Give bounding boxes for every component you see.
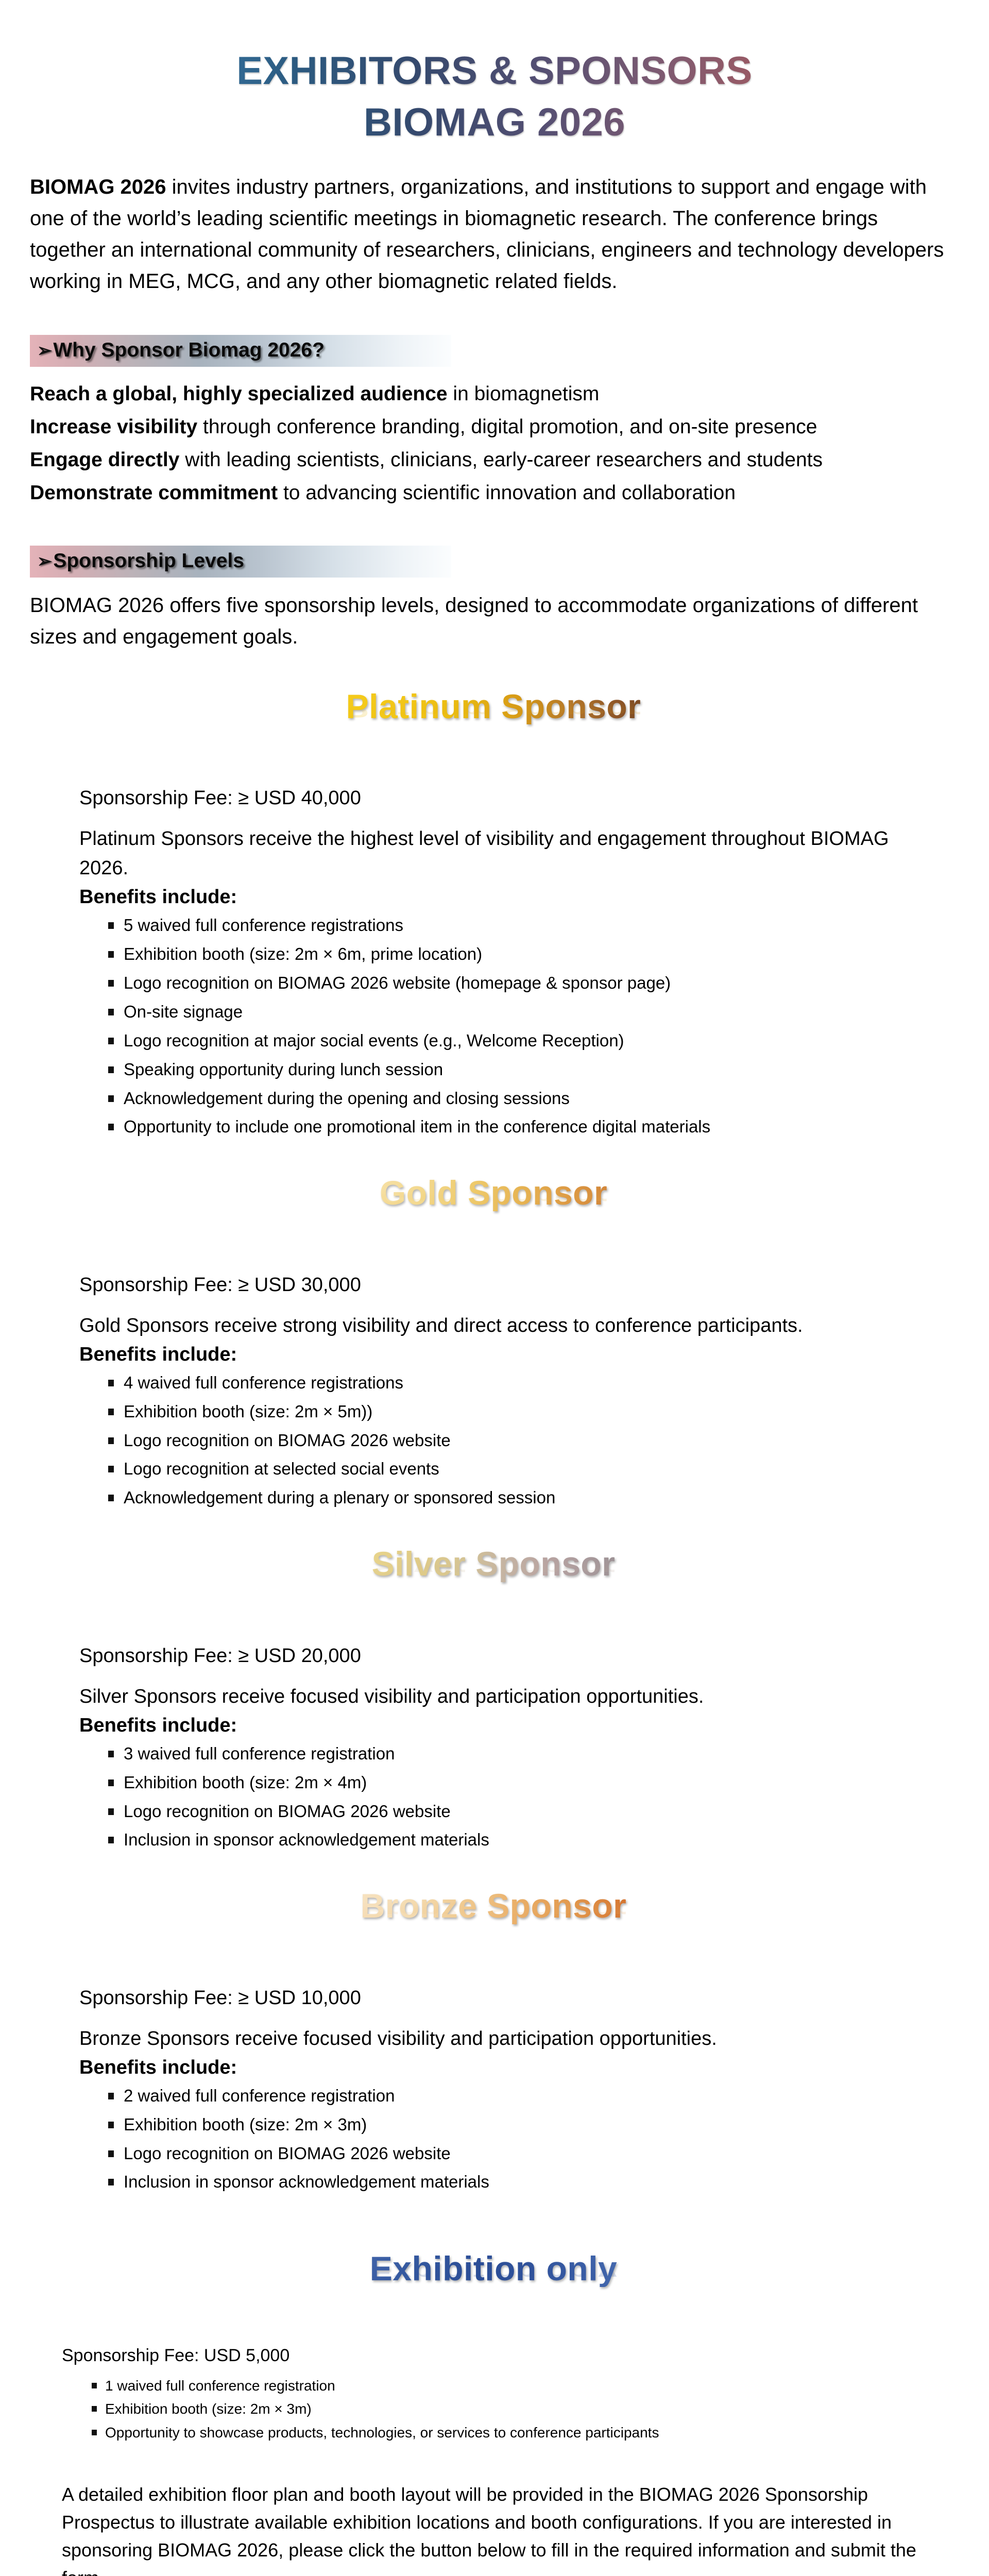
intro-paragraph: BIOMAG 2026 invites industry partners, o… (30, 172, 952, 297)
list-item: Acknowledgement during a plenary or spon… (108, 1486, 925, 1510)
list-item: Demonstrate commitment to advancing scie… (30, 478, 957, 508)
why-sponsor-list: Reach a global, highly specialized audie… (30, 379, 957, 507)
tier-body-platinum: Sponsorship Fee: ≥ USD 40,000 Platinum S… (30, 784, 957, 1139)
tier-title-silver-text: Silver Sponsor (372, 1546, 616, 1582)
benefits-label-gold: Benefits include: (79, 1344, 925, 1366)
list-item: Speaking opportunity during lunch sessio… (108, 1058, 925, 1082)
why-item-bold: Increase visibility (30, 416, 197, 438)
why-item-rest: with leading scientists, clinicians, ear… (179, 449, 823, 471)
tier-description-silver: Silver Sponsors receive focused visibili… (79, 1682, 925, 1711)
list-item: Exhibition booth (size: 2m × 3m) (108, 2113, 925, 2137)
list-item: Increase visibility through conference b… (30, 412, 957, 442)
benefits-list-exhibition-only: 1 waived full conference registration Ex… (62, 2376, 925, 2443)
why-item-bold: Reach a global, highly specialized audie… (30, 383, 448, 405)
exhibition-only-fee: Sponsorship Fee: USD 5,000 (62, 2343, 925, 2368)
why-item-bold: Engage directly (30, 449, 179, 471)
closing-block: A detailed exhibition floor plan and boo… (30, 2481, 957, 2576)
list-item: Opportunity to include one promotional i… (108, 1115, 925, 1139)
tier-fee-gold: Sponsorship Fee: ≥ USD 30,000 (79, 1270, 925, 1300)
exhibition-only-body: Sponsorship Fee: USD 5,000 1 waived full… (30, 2343, 957, 2443)
page-title-block: EXHIBITORS & SPONSORS BIOMAG 2026 (0, 0, 989, 144)
tier-title-silver: Silver Sponsor Silver Sponsor (30, 1546, 957, 1615)
tier-description-bronze: Bronze Sponsors receive focused visibili… (79, 2024, 925, 2054)
list-item: On-site signage (108, 1000, 925, 1024)
list-item: Exhibition booth (size: 2m × 5m)) (108, 1400, 925, 1424)
benefits-list-platinum: 5 waived full conference registrations E… (79, 913, 925, 1139)
section-header-why-sponsor: ➢ Why Sponsor Biomag 2026? (30, 335, 451, 367)
sponsorship-page: EXHIBITORS & SPONSORS BIOMAG 2026 BIOMAG… (0, 0, 989, 2576)
list-item: Reach a global, highly specialized audie… (30, 379, 957, 409)
list-item: 3 waived full conference registration (108, 1742, 925, 1766)
list-item: Opportunity to showcase products, techno… (92, 2422, 925, 2443)
benefits-label-silver: Benefits include: (79, 1715, 925, 1737)
tier-title-bronze-text: Bronze Sponsor (361, 1888, 627, 1924)
benefits-list-bronze: 2 waived full conference registration Ex… (79, 2084, 925, 2194)
why-item-rest: to advancing scientific innovation and c… (278, 482, 736, 504)
tier-fee-platinum: Sponsorship Fee: ≥ USD 40,000 (79, 784, 925, 813)
list-item: 4 waived full conference registrations (108, 1371, 925, 1395)
tier-title-bronze: Bronze Sponsor Bronze Sponsor (30, 1888, 957, 1957)
section-header-why-sponsor-label: Why Sponsor Biomag 2026? (53, 339, 325, 362)
page-title-line-2: BIOMAG 2026 (0, 101, 989, 144)
list-item: Acknowledgement during the opening and c… (108, 1087, 925, 1111)
tier-title-platinum: Platinum Sponsor Platinum Sponsor (30, 689, 957, 757)
why-item-rest: through conference branding, digital pro… (197, 416, 817, 438)
list-item: Exhibition booth (size: 2m × 6m, prime l… (108, 942, 925, 967)
list-item: Inclusion in sponsor acknowledgement mat… (108, 2170, 925, 2194)
list-item: Logo recognition at major social events … (108, 1029, 925, 1053)
arrow-bullet-icon: ➢ (37, 552, 52, 570)
intro-paragraph-text: invites industry partners, organizations… (30, 176, 944, 292)
tier-fee-silver: Sponsorship Fee: ≥ USD 20,000 (79, 1641, 925, 1671)
section-header-sponsorship-levels-label: Sponsorship Levels (53, 550, 244, 572)
list-item: 1 waived full conference registration (92, 2376, 925, 2396)
tier-description-gold: Gold Sponsors receive strong visibility … (79, 1311, 925, 1341)
page-content: BIOMAG 2026 invites industry partners, o… (0, 172, 989, 2576)
list-item: Logo recognition at selected social even… (108, 1457, 925, 1481)
tier-title-gold-text: Gold Sponsor (380, 1175, 607, 1211)
why-item-bold: Demonstrate commitment (30, 482, 278, 504)
benefits-list-silver: 3 waived full conference registration Ex… (79, 1742, 925, 1852)
list-item: Inclusion in sponsor acknowledgement mat… (108, 1828, 925, 1852)
list-item: Exhibition booth (size: 2m × 4m) (108, 1771, 925, 1795)
closing-paragraph: A detailed exhibition floor plan and boo… (62, 2481, 919, 2576)
benefits-list-gold: 4 waived full conference registrations E… (79, 1371, 925, 1510)
list-item: Logo recognition on BIOMAG 2026 website (108, 1800, 925, 1824)
tier-title-gold: Gold Sponsor Gold Sponsor (30, 1175, 957, 1244)
tier-description-platinum: Platinum Sponsors receive the highest le… (79, 824, 925, 883)
intro-lead-bold: BIOMAG 2026 (30, 176, 166, 198)
benefits-label-bronze: Benefits include: (79, 2057, 925, 2079)
list-item: Logo recognition on BIOMAG 2026 website … (108, 971, 925, 995)
tier-title-platinum-text: Platinum Sponsor (346, 689, 641, 724)
list-item: Logo recognition on BIOMAG 2026 website (108, 1429, 925, 1453)
list-item: 2 waived full conference registration (108, 2084, 925, 2108)
tier-body-silver: Sponsorship Fee: ≥ USD 20,000 Silver Spo… (30, 1641, 957, 1852)
tier-body-gold: Sponsorship Fee: ≥ USD 30,000 Gold Spons… (30, 1270, 957, 1510)
list-item: Logo recognition on BIOMAG 2026 website (108, 2142, 925, 2166)
why-item-rest: in biomagnetism (448, 383, 600, 405)
tier-title-exhibition-only: Exhibition only Exhibition only (30, 2251, 957, 2319)
tier-title-exhibition-only-text: Exhibition only (370, 2251, 618, 2286)
page-title-line-1: EXHIBITORS & SPONSORS (0, 49, 989, 93)
section-header-sponsorship-levels: ➢ Sponsorship Levels (30, 546, 451, 578)
arrow-bullet-icon: ➢ (37, 342, 52, 360)
list-item: Exhibition booth (size: 2m × 3m) (92, 2399, 925, 2419)
tier-fee-bronze: Sponsorship Fee: ≥ USD 10,000 (79, 1984, 925, 2013)
tier-body-bronze: Sponsorship Fee: ≥ USD 10,000 Bronze Spo… (30, 1984, 957, 2194)
list-item: 5 waived full conference registrations (108, 913, 925, 938)
list-item: Engage directly with leading scientists,… (30, 445, 957, 475)
benefits-label-platinum: Benefits include: (79, 886, 925, 908)
sponsorship-levels-intro: BIOMAG 2026 offers five sponsorship leve… (30, 590, 952, 653)
